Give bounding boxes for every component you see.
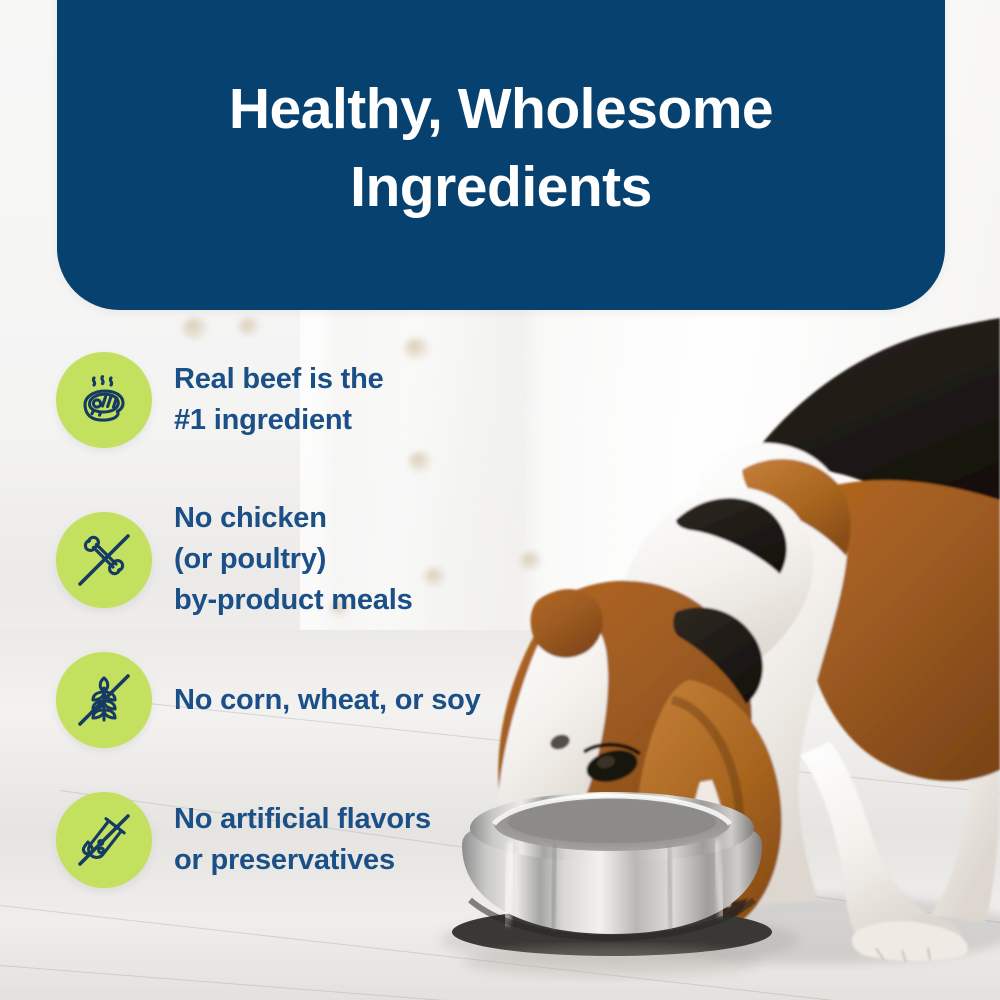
steak-icon bbox=[56, 352, 152, 448]
header-banner: Healthy, Wholesome Ingredients bbox=[57, 0, 945, 310]
feature-item-no-chicken: No chicken (or poultry) by-product meals bbox=[56, 498, 413, 621]
page-title-line-2: Ingredients bbox=[350, 155, 652, 219]
feature-item-no-artificial: No artificial flavors or preservatives bbox=[56, 792, 431, 888]
no-bone-icon bbox=[56, 512, 152, 608]
feature-label: No chicken (or poultry) by-product meals bbox=[174, 498, 413, 621]
page-title-line-1: Healthy, Wholesome bbox=[229, 77, 773, 141]
feature-label: Real beef is the #1 ingredient bbox=[174, 359, 384, 441]
page-title: Healthy, Wholesome Ingredients bbox=[229, 70, 773, 226]
feature-label: No corn, wheat, or soy bbox=[174, 680, 481, 721]
feature-item-no-grain: No corn, wheat, or soy bbox=[56, 652, 481, 748]
feature-label: No artificial flavors or preservatives bbox=[174, 799, 431, 881]
no-wheat-icon bbox=[56, 652, 152, 748]
infographic-page: Healthy, Wholesome Ingredients bbox=[0, 0, 1000, 1000]
no-test-tube-icon bbox=[56, 792, 152, 888]
feature-item-real-beef: Real beef is the #1 ingredient bbox=[56, 352, 384, 448]
